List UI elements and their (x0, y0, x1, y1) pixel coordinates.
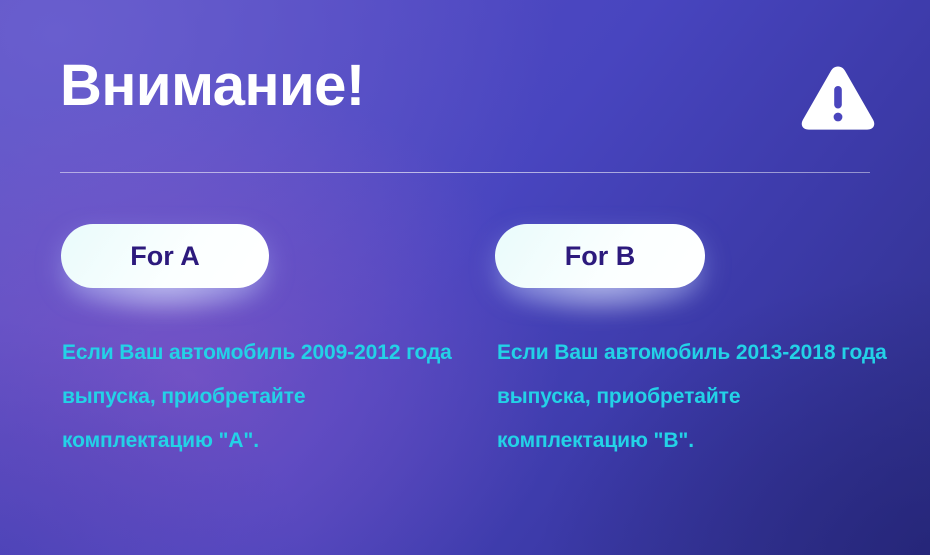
header-divider (60, 172, 870, 173)
warning-triangle-icon (800, 63, 876, 133)
option-column-b: For B Если Ваш автомобиль 2013-2018 года… (495, 224, 895, 288)
for-a-button[interactable]: For A (61, 224, 269, 288)
option-column-a: For A Если Ваш автомобиль 2009-2012 года… (61, 224, 461, 288)
for-b-label: For B (565, 243, 636, 270)
warning-banner: Внимание! For A Если Ваш автомобиль 2009… (0, 0, 930, 555)
for-b-button[interactable]: For B (495, 224, 705, 288)
for-a-label: For A (130, 243, 200, 270)
option-a-description: Если Ваш автомобиль 2009-2012 года выпус… (62, 331, 454, 463)
page-title: Внимание! (60, 57, 365, 115)
banner-content: Внимание! For A Если Ваш автомобиль 2009… (0, 0, 930, 555)
option-b-description: Если Ваш автомобиль 2013-2018 года выпус… (497, 331, 889, 463)
